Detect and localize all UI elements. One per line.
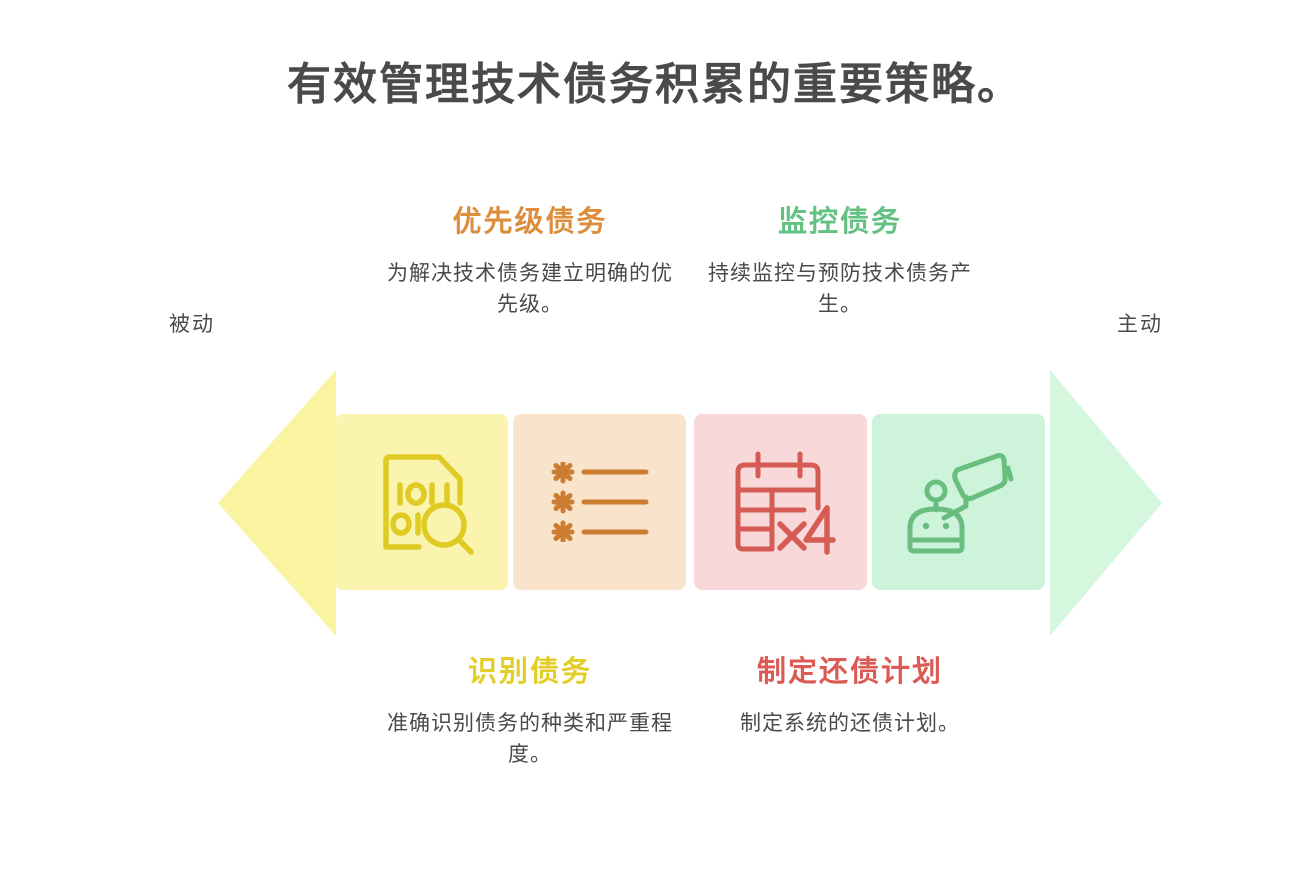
step-text-repayment-plan: 制定还债计划 制定系统的还债计划。 — [700, 655, 1000, 739]
step-heading-prioritize: 优先级债务 — [380, 205, 680, 240]
left-arrow-shape — [218, 370, 336, 636]
step-description-repayment-plan: 制定系统的还债计划。 — [700, 708, 1000, 740]
step-text-identify: 识别债务 准确识别债务的种类和严重程度。 — [380, 655, 680, 771]
axis-label-passive: 被动 — [132, 308, 252, 338]
step-description-identify: 准确识别债务的种类和严重程度。 — [380, 708, 680, 771]
step-description-monitor: 持续监控与预防技术债务产生。 — [690, 258, 990, 321]
step-card-monitor[interactable] — [872, 414, 1045, 590]
step-text-monitor: 监控债务 持续监控与预防技术债务产生。 — [690, 205, 990, 321]
binary-document-magnifier-icon — [367, 447, 477, 557]
priority-list-icon — [550, 462, 650, 542]
infographic-canvas: 有效管理技术债务积累的重要策略。 被动 主动 — [0, 0, 1310, 870]
right-arrow-shape — [1050, 370, 1162, 636]
step-description-prioritize: 为解决技术债务建立明确的优先级。 — [380, 258, 680, 321]
step-card-repayment-plan[interactable] — [694, 414, 867, 590]
step-card-prioritize[interactable] — [513, 414, 686, 590]
calendar-schedule-x4-icon — [726, 448, 836, 556]
surveillance-camera-robot-icon — [904, 448, 1014, 556]
axis-label-active: 主动 — [1080, 308, 1200, 338]
step-heading-monitor: 监控债务 — [690, 205, 990, 240]
step-text-prioritize: 优先级债务 为解决技术债务建立明确的优先级。 — [380, 205, 680, 321]
page-title: 有效管理技术债务积累的重要策略。 — [0, 48, 1310, 112]
step-card-identify[interactable] — [335, 414, 508, 590]
step-heading-repayment-plan: 制定还债计划 — [700, 655, 1000, 690]
step-heading-identify: 识别债务 — [380, 655, 680, 690]
